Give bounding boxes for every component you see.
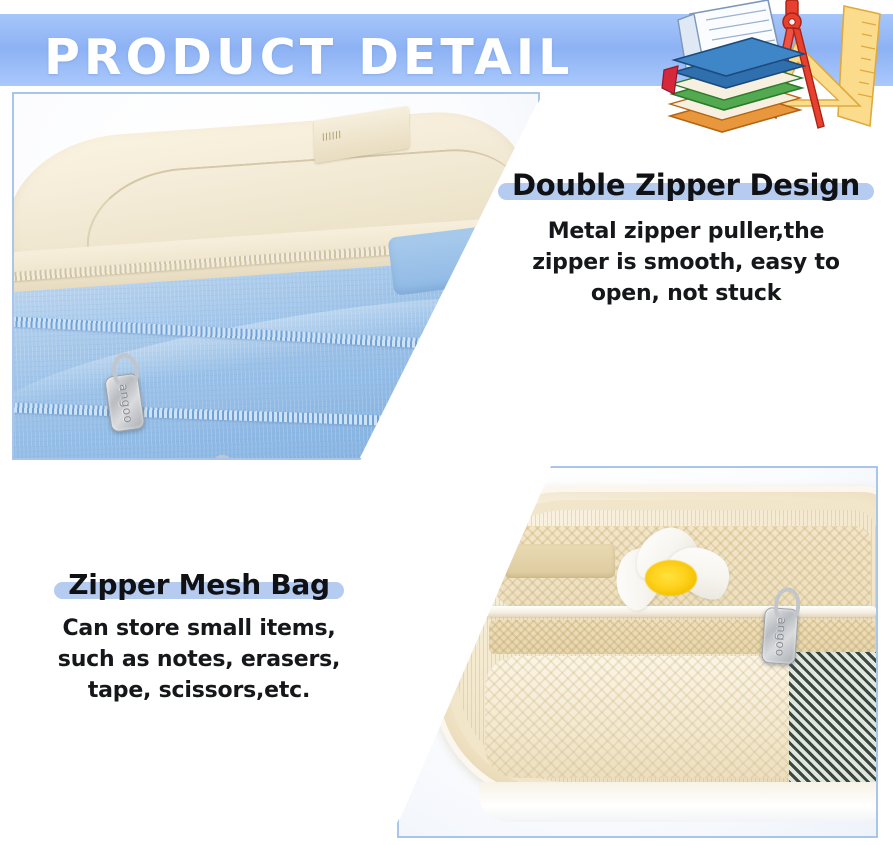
flower-center (645, 560, 697, 596)
pocket-tab (505, 544, 615, 578)
body-line: such as notes, erasers, (14, 644, 384, 675)
photo-zipper-mesh-bag: angoo (397, 466, 878, 838)
body-line: zipper is smooth, easy to (488, 247, 884, 278)
photo-zipper-mesh-bag-image: angoo (399, 468, 876, 836)
plumeria-flower (609, 532, 739, 618)
section-double-zipper-text: Double Zipper Design Metal zipper puller… (488, 168, 884, 309)
yellow-ruler-icon (838, 6, 880, 126)
pencil-case-blue: |||||| angoo angoo (14, 94, 538, 458)
photo-double-zipper: |||||| angoo angoo (12, 92, 540, 460)
case-bottom-lid (479, 782, 876, 822)
body-line: Metal zipper puller,the (488, 216, 884, 247)
mesh-dark-patch (789, 652, 876, 784)
mesh-band (489, 620, 875, 654)
page-title: PRODUCT DETAIL (44, 32, 573, 84)
body-line: tape, scissors,etc. (14, 675, 384, 706)
stationery-illustration (648, 0, 893, 150)
product-detail-page: PRODUCT DETAIL (0, 0, 893, 845)
body-line: Can store small items, (14, 613, 384, 644)
case-care-label-text: |||||| (322, 129, 342, 141)
pencil-case-open-cream: angoo (433, 486, 876, 816)
heading-zipper-mesh: Zipper Mesh Bag (54, 568, 344, 601)
zipper-puller-mesh: angoo (761, 607, 799, 665)
section-zipper-mesh-text: Zipper Mesh Bag Can store small items, s… (14, 568, 384, 706)
zipper-puller-brand-text: angoo (752, 618, 810, 656)
heading-double-zipper-label: Double Zipper Design (512, 168, 860, 202)
body-double-zipper: Metal zipper puller,the zipper is smooth… (488, 216, 884, 309)
body-line: open, not stuck (488, 278, 884, 309)
body-zipper-mesh: Can store small items, such as notes, er… (14, 613, 384, 706)
photo-double-zipper-image: |||||| angoo angoo (14, 94, 538, 458)
heading-zipper-mesh-label: Zipper Mesh Bag (68, 568, 330, 601)
heading-double-zipper: Double Zipper Design (498, 168, 874, 202)
